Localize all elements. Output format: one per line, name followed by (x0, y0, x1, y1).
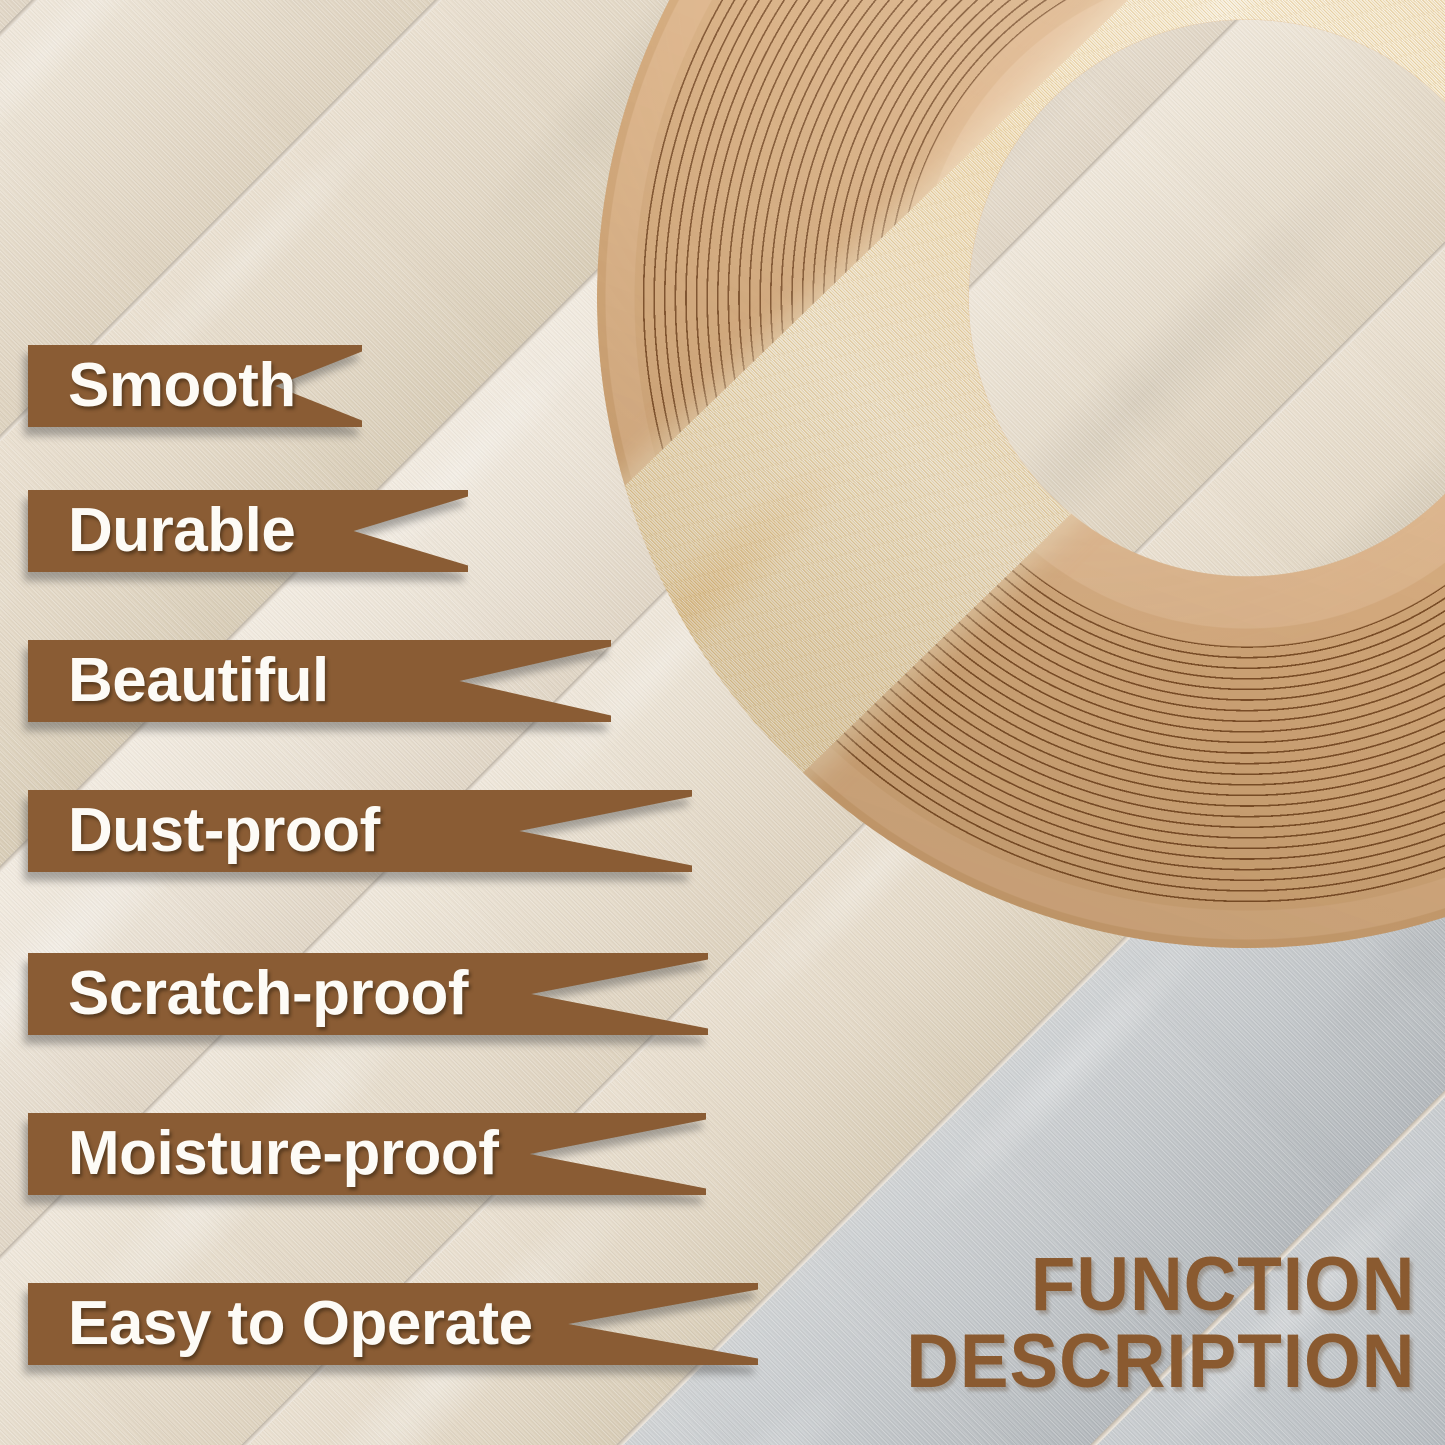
feature-banner-label: Durable (28, 500, 295, 562)
product-feature-infographic: Smooth Durable Beautiful Dust-proof Scra… (0, 0, 1445, 1445)
feature-banner-label: Beautiful (28, 650, 329, 712)
wood-plank-background (0, 0, 1445, 1445)
plank-stack (0, 0, 1445, 1445)
function-description-line-1: FUNCTION (906, 1246, 1415, 1324)
feature-banner-durable[interactable]: Durable (28, 490, 468, 572)
feature-banner-label: Scratch-proof (28, 963, 468, 1025)
feature-banner-beautiful[interactable]: Beautiful (28, 640, 611, 722)
function-description-heading: FUNCTION DESCRIPTION (885, 1246, 1415, 1401)
feature-banner-scratch-proof[interactable]: Scratch-proof (28, 953, 708, 1035)
feature-banner-easy-to-operate[interactable]: Easy to Operate (28, 1283, 758, 1365)
feature-banner-label: Dust-proof (28, 800, 380, 862)
function-description-line-2: DESCRIPTION (906, 1323, 1415, 1401)
feature-banner-label: Smooth (28, 355, 296, 417)
feature-banner-label: Easy to Operate (28, 1293, 533, 1355)
feature-banner-smooth[interactable]: Smooth (28, 345, 362, 427)
feature-banner-label: Moisture-proof (28, 1123, 498, 1185)
feature-banner-moisture-proof[interactable]: Moisture-proof (28, 1113, 706, 1195)
feature-banner-dust-proof[interactable]: Dust-proof (28, 790, 692, 872)
